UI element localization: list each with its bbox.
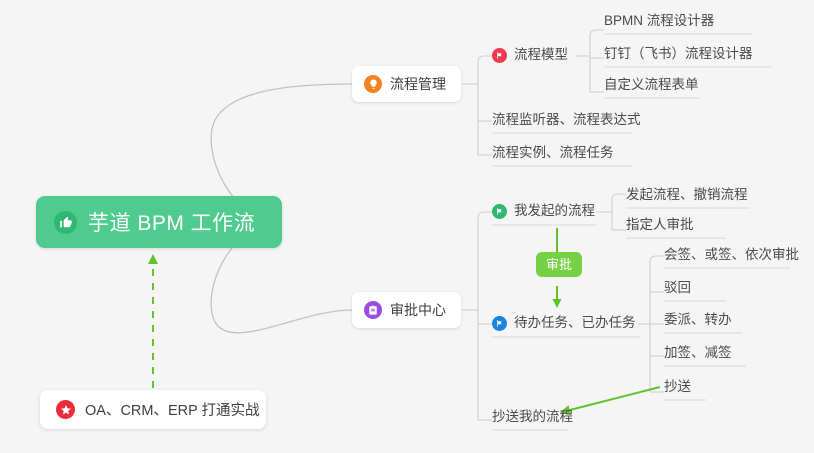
leaf-cc-to-me-processes[interactable]: 抄送我的流程 <box>492 408 573 430</box>
leaf-dingtalk-feishu-designer[interactable]: 钉钉（飞书）流程设计器 <box>604 45 753 67</box>
leaf-label: 流程实例、流程任务 <box>492 144 614 162</box>
leaf-assigned-approver[interactable]: 指定人审批 <box>626 216 694 238</box>
leaf-label: 待办任务、已办任务 <box>514 314 636 332</box>
leaf-label: 流程模型 <box>514 46 568 64</box>
annotation-badge-approval[interactable]: 审批 <box>536 252 582 277</box>
leaf-label: 加签、减签 <box>664 344 732 362</box>
leaf-label: 自定义流程表单 <box>604 76 699 94</box>
badge-label: 审批 <box>546 257 572 272</box>
leaf-label: BPMN 流程设计器 <box>604 12 714 30</box>
note-card-integration[interactable]: OA、CRM、ERP 打通实战 <box>40 390 266 429</box>
branch-node-approval-center[interactable]: 审批中心 <box>352 292 461 328</box>
leaf-reject[interactable]: 驳回 <box>664 279 691 301</box>
leaf-todo-done-tasks[interactable]: 待办任务、已办任务 <box>492 314 636 336</box>
leaf-label: 委派、转办 <box>664 311 732 329</box>
leaf-label: 钉钉（飞书）流程设计器 <box>604 45 753 63</box>
leaf-custom-process-form[interactable]: 自定义流程表单 <box>604 76 699 98</box>
leaf-label: 流程监听器、流程表达式 <box>492 111 641 129</box>
leaf-label: 会签、或签、依次审批 <box>664 246 799 264</box>
leaf-carbon-copy[interactable]: 抄送 <box>664 378 691 400</box>
leaf-countersign-orsign-sequential[interactable]: 会签、或签、依次审批 <box>664 246 799 268</box>
leaf-label: 抄送 <box>664 378 691 396</box>
leaf-label: 抄送我的流程 <box>492 408 573 426</box>
note-card-label: OA、CRM、ERP 打通实战 <box>85 399 260 420</box>
root-node[interactable]: 芋道 BPM 工作流 <box>36 196 282 248</box>
leaf-label: 我发起的流程 <box>514 202 595 220</box>
flag-icon <box>492 204 507 219</box>
lightbulb-icon <box>364 75 382 93</box>
root-label: 芋道 BPM 工作流 <box>88 207 255 237</box>
clipboard-icon <box>364 301 382 319</box>
leaf-add-remove-signer[interactable]: 加签、减签 <box>664 344 732 366</box>
star-icon <box>56 400 75 419</box>
leaf-label: 驳回 <box>664 279 691 297</box>
leaf-start-cancel-process[interactable]: 发起流程、撤销流程 <box>626 186 748 208</box>
leaf-bpmn-designer[interactable]: BPMN 流程设计器 <box>604 12 714 34</box>
leaf-delegate-transfer[interactable]: 委派、转办 <box>664 311 732 333</box>
branch-label: 审批中心 <box>390 300 446 320</box>
branch-label: 流程管理 <box>390 74 446 94</box>
flag-icon <box>492 316 507 331</box>
thumbs-up-icon <box>54 211 77 234</box>
mindmap-canvas: 芋道 BPM 工作流 流程管理 流程模型 BPMN 流程设计器 钉钉（飞书）流程… <box>0 0 814 453</box>
leaf-label: 发起流程、撤销流程 <box>626 186 748 204</box>
leaf-process-listener-expression[interactable]: 流程监听器、流程表达式 <box>492 111 641 133</box>
branch-node-process-management[interactable]: 流程管理 <box>352 66 461 102</box>
leaf-my-initiated-processes[interactable]: 我发起的流程 <box>492 202 595 224</box>
leaf-label: 指定人审批 <box>626 216 694 234</box>
flag-icon <box>492 48 507 63</box>
leaf-process-instance-task[interactable]: 流程实例、流程任务 <box>492 144 614 166</box>
leaf-process-model[interactable]: 流程模型 <box>492 46 568 68</box>
